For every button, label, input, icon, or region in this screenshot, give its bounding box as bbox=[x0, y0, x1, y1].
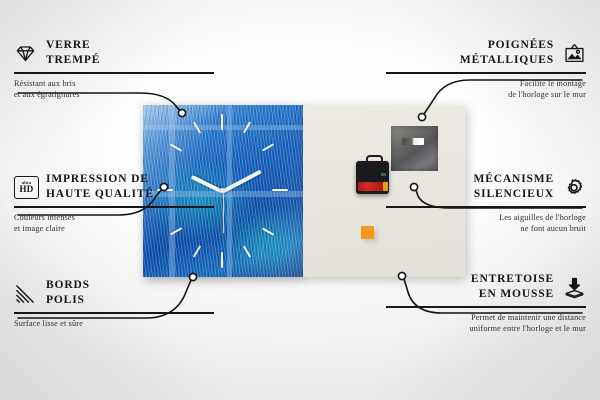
feature-header: ultra HD IMPRESSION DE HAUTE QUALITÉ bbox=[14, 172, 214, 202]
feature-poignees-metalliques: POIGNÉES MÉTALLIQUES Facilite le montage… bbox=[386, 38, 586, 100]
mechanism-loop bbox=[366, 155, 383, 165]
feature-header: ENTRETOISE EN MOUSSE bbox=[386, 272, 586, 302]
foam-spacer-icon bbox=[563, 276, 586, 299]
divider bbox=[386, 306, 586, 307]
feature-subtitle: Couleurs intenses et image claire bbox=[14, 212, 214, 235]
feature-title: POIGNÉES MÉTALLIQUES bbox=[460, 38, 554, 68]
picture-hanger-icon bbox=[563, 42, 586, 65]
feature-impression-haute-qualite: ultra HD IMPRESSION DE HAUTE QUALITÉ Cou… bbox=[14, 172, 214, 234]
feature-mecanisme-silencieux: MÉCANISME SILENCIEUX Les aiguilles de l'… bbox=[386, 172, 586, 234]
product-feature-infographic: VERRE TREMPÉ Résistant aux bris et aux é… bbox=[0, 0, 600, 400]
hanger-slot bbox=[402, 138, 424, 145]
divider bbox=[14, 72, 214, 73]
divider bbox=[14, 312, 214, 313]
feature-title: MÉCANISME SILENCIEUX bbox=[474, 172, 555, 202]
feature-subtitle: Les aiguilles de l'horloge ne font aucun… bbox=[386, 212, 586, 235]
polished-edge-icon bbox=[14, 282, 37, 305]
diamond-icon bbox=[14, 42, 37, 65]
battery bbox=[358, 182, 385, 191]
feature-header: MÉCANISME SILENCIEUX bbox=[386, 172, 586, 202]
metal-hanger-plate bbox=[391, 126, 438, 171]
feature-subtitle: Permet de maintenir une distance uniform… bbox=[386, 312, 586, 335]
feature-subtitle: Surface lisse et sûre bbox=[14, 318, 214, 329]
feature-title: IMPRESSION DE HAUTE QUALITÉ bbox=[46, 172, 154, 202]
feature-title: BORDS POLIS bbox=[46, 278, 90, 308]
feature-header: POIGNÉES MÉTALLIQUES bbox=[386, 38, 586, 68]
divider bbox=[386, 206, 586, 207]
gear-icon bbox=[563, 176, 586, 199]
ultra-hd-big-label: HD bbox=[20, 185, 34, 194]
feature-subtitle: Facilite le montage de l'horloge sur le … bbox=[386, 78, 586, 101]
divider bbox=[386, 72, 586, 73]
second-hand bbox=[223, 191, 224, 233]
feature-header: VERRE TREMPÉ bbox=[14, 38, 214, 68]
feature-entretoise-en-mousse: ENTRETOISE EN MOUSSE Permet de maintenir… bbox=[386, 272, 586, 334]
feature-subtitle: Résistant aux bris et aux égratignures bbox=[14, 78, 214, 101]
feature-bords-polis: BORDS POLIS Surface lisse et sûre bbox=[14, 278, 214, 329]
foam-spacer-pad bbox=[361, 226, 374, 239]
feature-title: VERRE TREMPÉ bbox=[46, 38, 100, 68]
feature-header: BORDS POLIS bbox=[14, 278, 214, 308]
feature-title: ENTRETOISE EN MOUSSE bbox=[471, 272, 554, 302]
divider bbox=[14, 206, 214, 207]
clock-mechanism bbox=[356, 161, 389, 194]
ultra-hd-icon: ultra HD bbox=[14, 176, 37, 199]
feature-verre-trempe: VERRE TREMPÉ Résistant aux bris et aux é… bbox=[14, 38, 214, 100]
clock-hub bbox=[220, 188, 225, 193]
